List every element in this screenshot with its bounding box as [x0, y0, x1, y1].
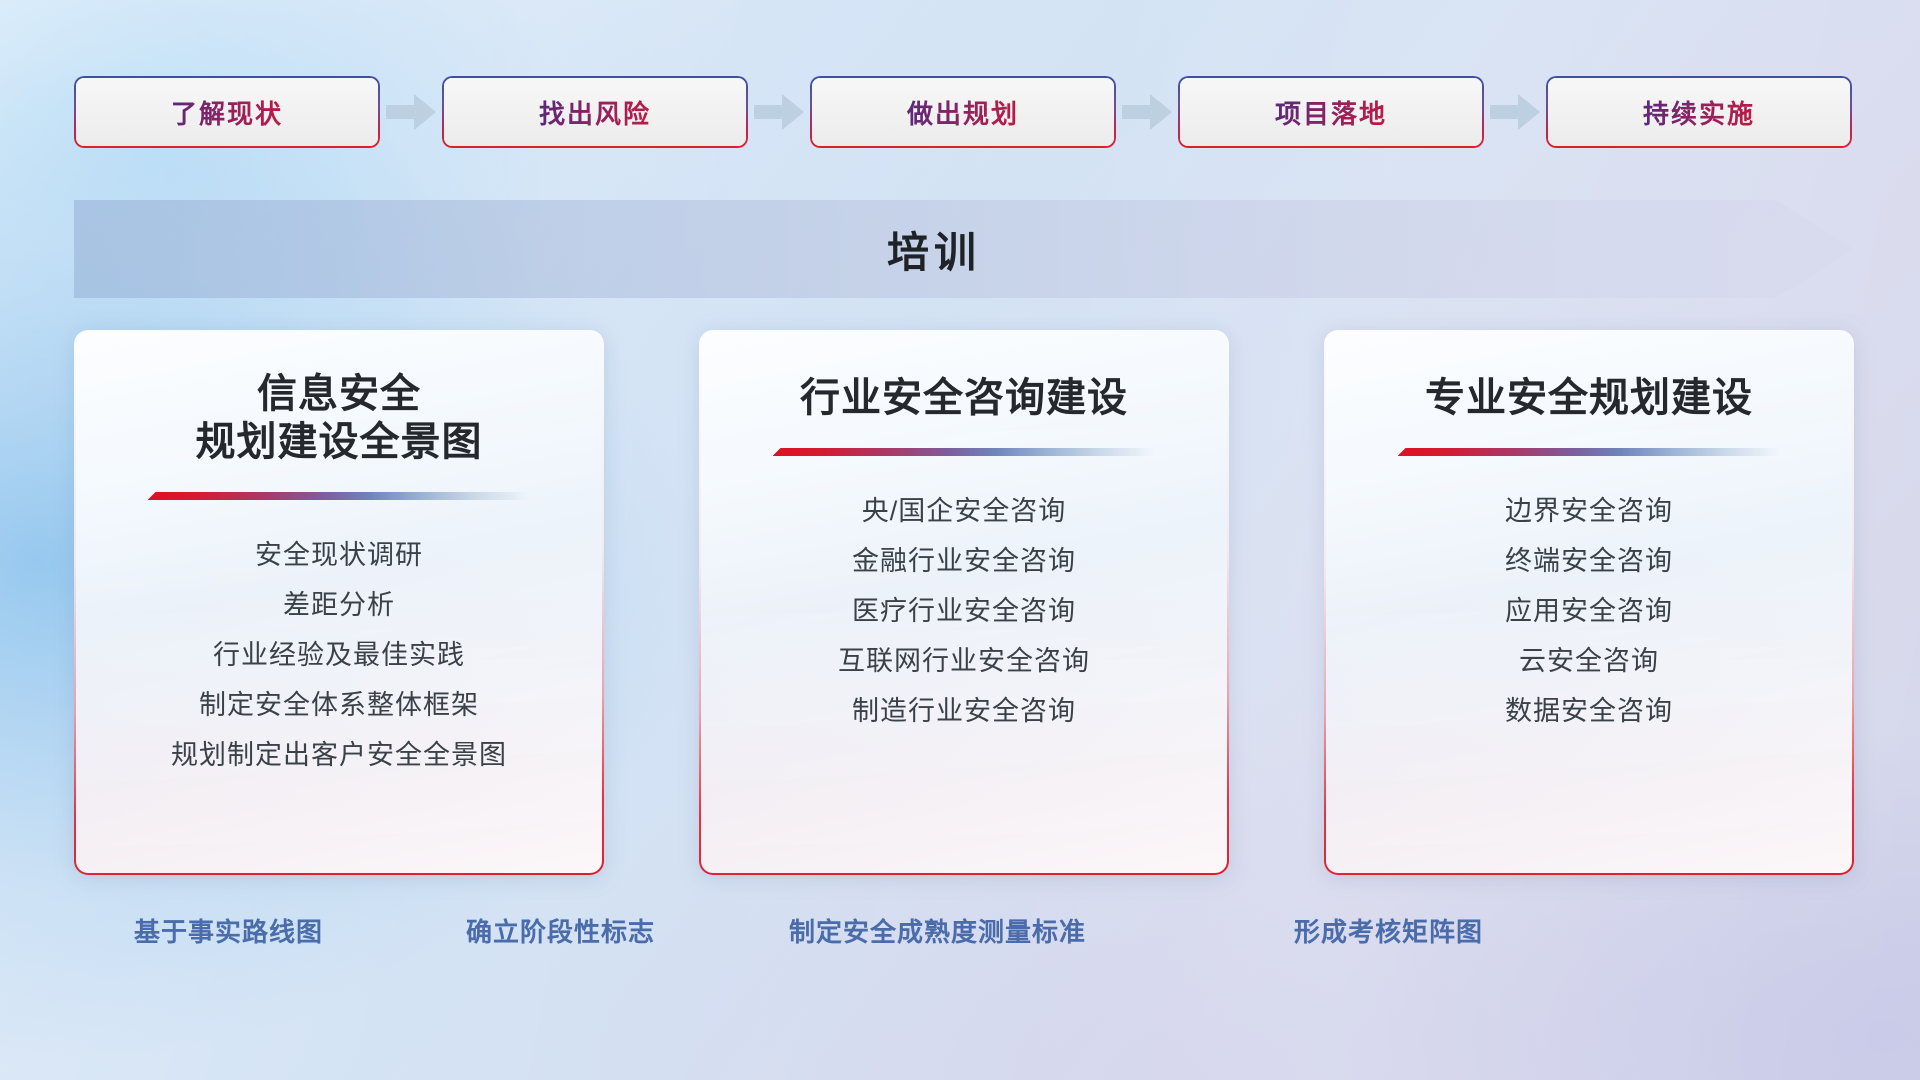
flow-step-label: 了解现状: [74, 76, 380, 148]
card-inner: 信息安全 规划建设全景图 安全现状调研 差距分析 行业经验及最佳实践 制定安全体…: [76, 332, 602, 873]
flow-step-label: 项目落地: [1178, 76, 1484, 148]
card-title: 信息安全 规划建设全景图: [76, 370, 602, 466]
card-title: 专业安全规划建设: [1326, 374, 1852, 422]
list-item: 金融行业安全咨询: [701, 536, 1227, 586]
training-banner: 培训: [74, 200, 1854, 298]
card-2[interactable]: 行业安全咨询建设 央/国企安全咨询 金融行业安全咨询 医疗行业安全咨询 互联网行…: [699, 330, 1229, 875]
flow-step-5[interactable]: 持续实施: [1546, 76, 1852, 148]
flow-step-2[interactable]: 找出风险: [442, 76, 748, 148]
card-item-list: 边界安全咨询 终端安全咨询 应用安全咨询 云安全咨询 数据安全咨询: [1326, 486, 1852, 736]
flow-step-1[interactable]: 了解现状: [74, 76, 380, 148]
card-item-list: 央/国企安全咨询 金融行业安全咨询 医疗行业安全咨询 互联网行业安全咨询 制造行…: [701, 486, 1227, 736]
process-flow-row: 了解现状 找出风险 做出规划: [74, 76, 1854, 148]
list-item: 规划制定出客户安全全景图: [76, 730, 602, 780]
list-item: 央/国企安全咨询: [701, 486, 1227, 536]
list-item: 互联网行业安全咨询: [701, 636, 1227, 686]
bottom-label-4: 形成考核矩阵图: [1294, 912, 1483, 949]
bottom-label-1: 基于事实路线图: [134, 912, 323, 949]
right-arrow-icon: [1116, 76, 1178, 148]
bottom-label-3: 制定安全成熟度测量标准: [789, 912, 1086, 949]
cards-row: 信息安全 规划建设全景图 安全现状调研 差距分析 行业经验及最佳实践 制定安全体…: [74, 330, 1854, 875]
flow-step-3[interactable]: 做出规划: [810, 76, 1116, 148]
card-divider: [148, 492, 531, 500]
flow-step-label: 做出规划: [810, 76, 1116, 148]
flow-step-label: 持续实施: [1546, 76, 1852, 148]
bottom-labels-row: 基于事实路线图 确立阶段性标志 制定安全成熟度测量标准 形成考核矩阵图: [0, 912, 1920, 964]
card-divider: [773, 448, 1156, 456]
right-arrow-icon: [380, 76, 442, 148]
list-item: 制定安全体系整体框架: [76, 680, 602, 730]
list-item: 终端安全咨询: [1326, 536, 1852, 586]
list-item: 数据安全咨询: [1326, 686, 1852, 736]
card-3[interactable]: 专业安全规划建设 边界安全咨询 终端安全咨询 应用安全咨询 云安全咨询 数据安全…: [1324, 330, 1854, 875]
list-item: 边界安全咨询: [1326, 486, 1852, 536]
card-item-list: 安全现状调研 差距分析 行业经验及最佳实践 制定安全体系整体框架 规划制定出客户…: [76, 530, 602, 780]
right-arrow-icon: [748, 76, 810, 148]
list-item: 制造行业安全咨询: [701, 686, 1227, 736]
list-item: 安全现状调研: [76, 530, 602, 580]
card-inner: 专业安全规划建设 边界安全咨询 终端安全咨询 应用安全咨询 云安全咨询 数据安全…: [1326, 332, 1852, 873]
card-title: 行业安全咨询建设: [701, 374, 1227, 422]
list-item: 应用安全咨询: [1326, 586, 1852, 636]
list-item: 差距分析: [76, 580, 602, 630]
card-divider: [1398, 448, 1781, 456]
card-inner: 行业安全咨询建设 央/国企安全咨询 金融行业安全咨询 医疗行业安全咨询 互联网行…: [701, 332, 1227, 873]
bottom-label-2: 确立阶段性标志: [466, 912, 655, 949]
slide-canvas: 了解现状 找出风险 做出规划: [0, 0, 1920, 1080]
banner-title: 培训: [74, 200, 1854, 298]
flow-step-label: 找出风险: [442, 76, 748, 148]
card-1[interactable]: 信息安全 规划建设全景图 安全现状调研 差距分析 行业经验及最佳实践 制定安全体…: [74, 330, 604, 875]
right-arrow-icon: [1484, 76, 1546, 148]
flow-step-4[interactable]: 项目落地: [1178, 76, 1484, 148]
list-item: 云安全咨询: [1326, 636, 1852, 686]
list-item: 医疗行业安全咨询: [701, 586, 1227, 636]
list-item: 行业经验及最佳实践: [76, 630, 602, 680]
